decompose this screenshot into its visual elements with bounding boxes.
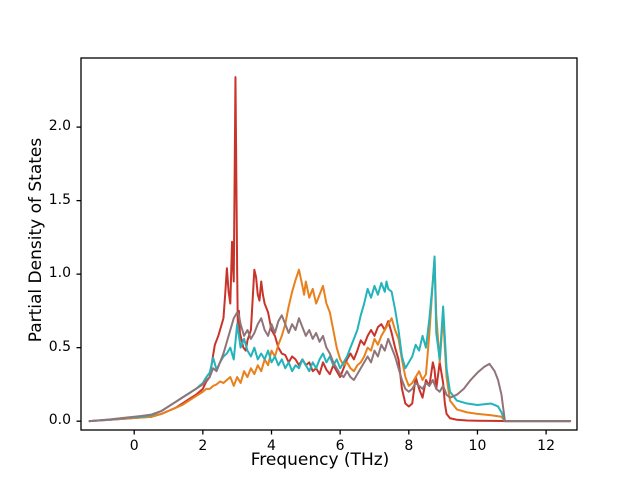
figure-background [0,0,640,480]
chart-canvas [0,0,640,480]
x-tick-label: 6 [320,438,360,454]
y-tick-label: 0.0 [31,412,71,428]
x-tick-label: 10 [457,438,497,454]
y-tick-label: 1.5 [31,192,71,208]
x-tick-label: 12 [526,438,566,454]
y-axis-label: Partial Density of States [24,0,48,480]
x-tick-label: 8 [389,438,429,454]
y-tick-label: 2.0 [31,118,71,134]
x-tick-label: 2 [183,438,223,454]
y-tick-label: 1.0 [31,265,71,281]
figure: Frequency (THz) Partial Density of State… [0,0,640,480]
y-tick-label: 0.5 [31,339,71,355]
x-tick-label: 0 [114,438,154,454]
x-tick-label: 4 [252,438,292,454]
